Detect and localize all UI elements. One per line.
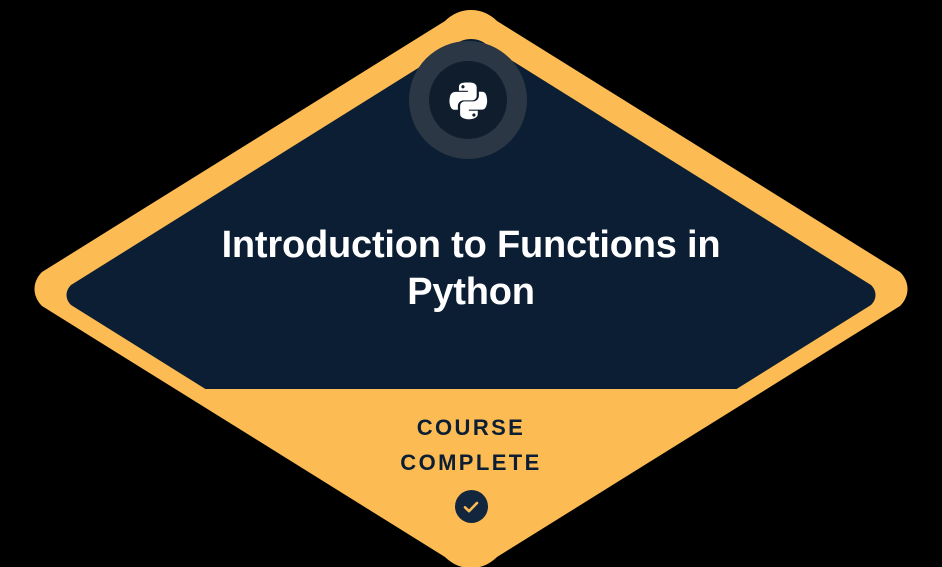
status-label: COURSE COMPLETE [261,410,681,480]
badge-canvas: Introduction to Functions in Python COUR… [0,0,942,567]
badge-title: Introduction to Functions in Python [191,222,751,316]
course-status: COURSE COMPLETE [261,410,681,523]
badge-dark-panel [0,0,942,389]
check-circle-icon [462,498,480,516]
completion-check-badge [455,490,488,523]
